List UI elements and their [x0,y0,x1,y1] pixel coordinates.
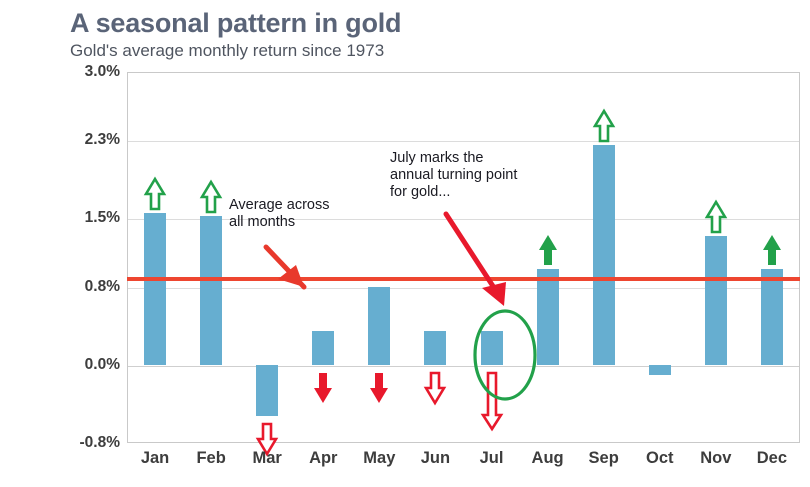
bar-jan[interactable] [144,213,166,365]
bar-sep[interactable] [593,145,615,365]
bar-nov[interactable] [705,236,727,365]
up-arrow-icon-sep [593,109,615,143]
annotation-july-turning-point: July marks the annual turning point for … [390,150,517,201]
bar-slot [688,72,744,443]
bar-oct[interactable] [649,365,671,375]
bar-slot [127,72,183,443]
x-axis-tick-label: Jan [127,449,183,479]
y-axis-tick-label: 3.0% [10,63,120,81]
x-axis-tick-label: Jun [407,449,463,479]
bar-dec[interactable] [761,269,783,365]
up-arrow-icon-dec [761,233,783,267]
down-arrow-icon-may [368,371,390,405]
up-arrow-icon-jan [144,177,166,211]
bar-apr[interactable] [312,331,334,365]
y-axis-tick-label: 0.8% [10,278,120,296]
bar-slot [632,72,688,443]
annotation-arrow-average [262,243,322,299]
y-axis-tick-label: -0.8% [10,434,120,452]
bar-aug[interactable] [537,269,559,365]
y-axis-tick-label: 0.0% [10,356,120,374]
bar-may[interactable] [368,287,390,365]
x-axis-tick-label: May [351,449,407,479]
chart-root: A seasonal pattern in gold Gold's averag… [0,0,810,487]
x-axis-tick-label: Oct [632,449,688,479]
down-arrow-icon-jun [424,371,446,405]
x-axis: JanFebMarAprMayJunJulAugSepOctNovDec [127,449,800,479]
bar-slot [183,72,239,443]
y-axis-tick-label: 1.5% [10,209,120,227]
x-axis-tick-label: Feb [183,449,239,479]
x-axis-tick-label: Apr [295,449,351,479]
july-highlight-ellipse [472,308,538,402]
up-arrow-icon-aug [537,233,559,267]
x-axis-tick-label: Nov [688,449,744,479]
x-axis-tick-label: Dec [744,449,800,479]
annotation-arrow-july [440,208,520,316]
bar-feb[interactable] [200,216,222,364]
x-axis-tick-label: Aug [520,449,576,479]
annotation-average-across-all-months: Average across all months [229,197,329,231]
y-axis-tick-label: 2.3% [10,131,120,149]
x-axis-tick-label: Sep [576,449,632,479]
down-arrow-icon-apr [312,371,334,405]
up-arrow-icon-nov [705,200,727,234]
y-axis: 3.0%2.3%1.5%0.8%0.0%-0.8% [0,0,120,487]
up-arrow-icon-feb [200,180,222,214]
x-axis-tick-label: Jul [463,449,519,479]
x-axis-tick-label: Mar [239,449,295,479]
bar-mar[interactable] [256,365,278,416]
bar-jun[interactable] [424,331,446,365]
